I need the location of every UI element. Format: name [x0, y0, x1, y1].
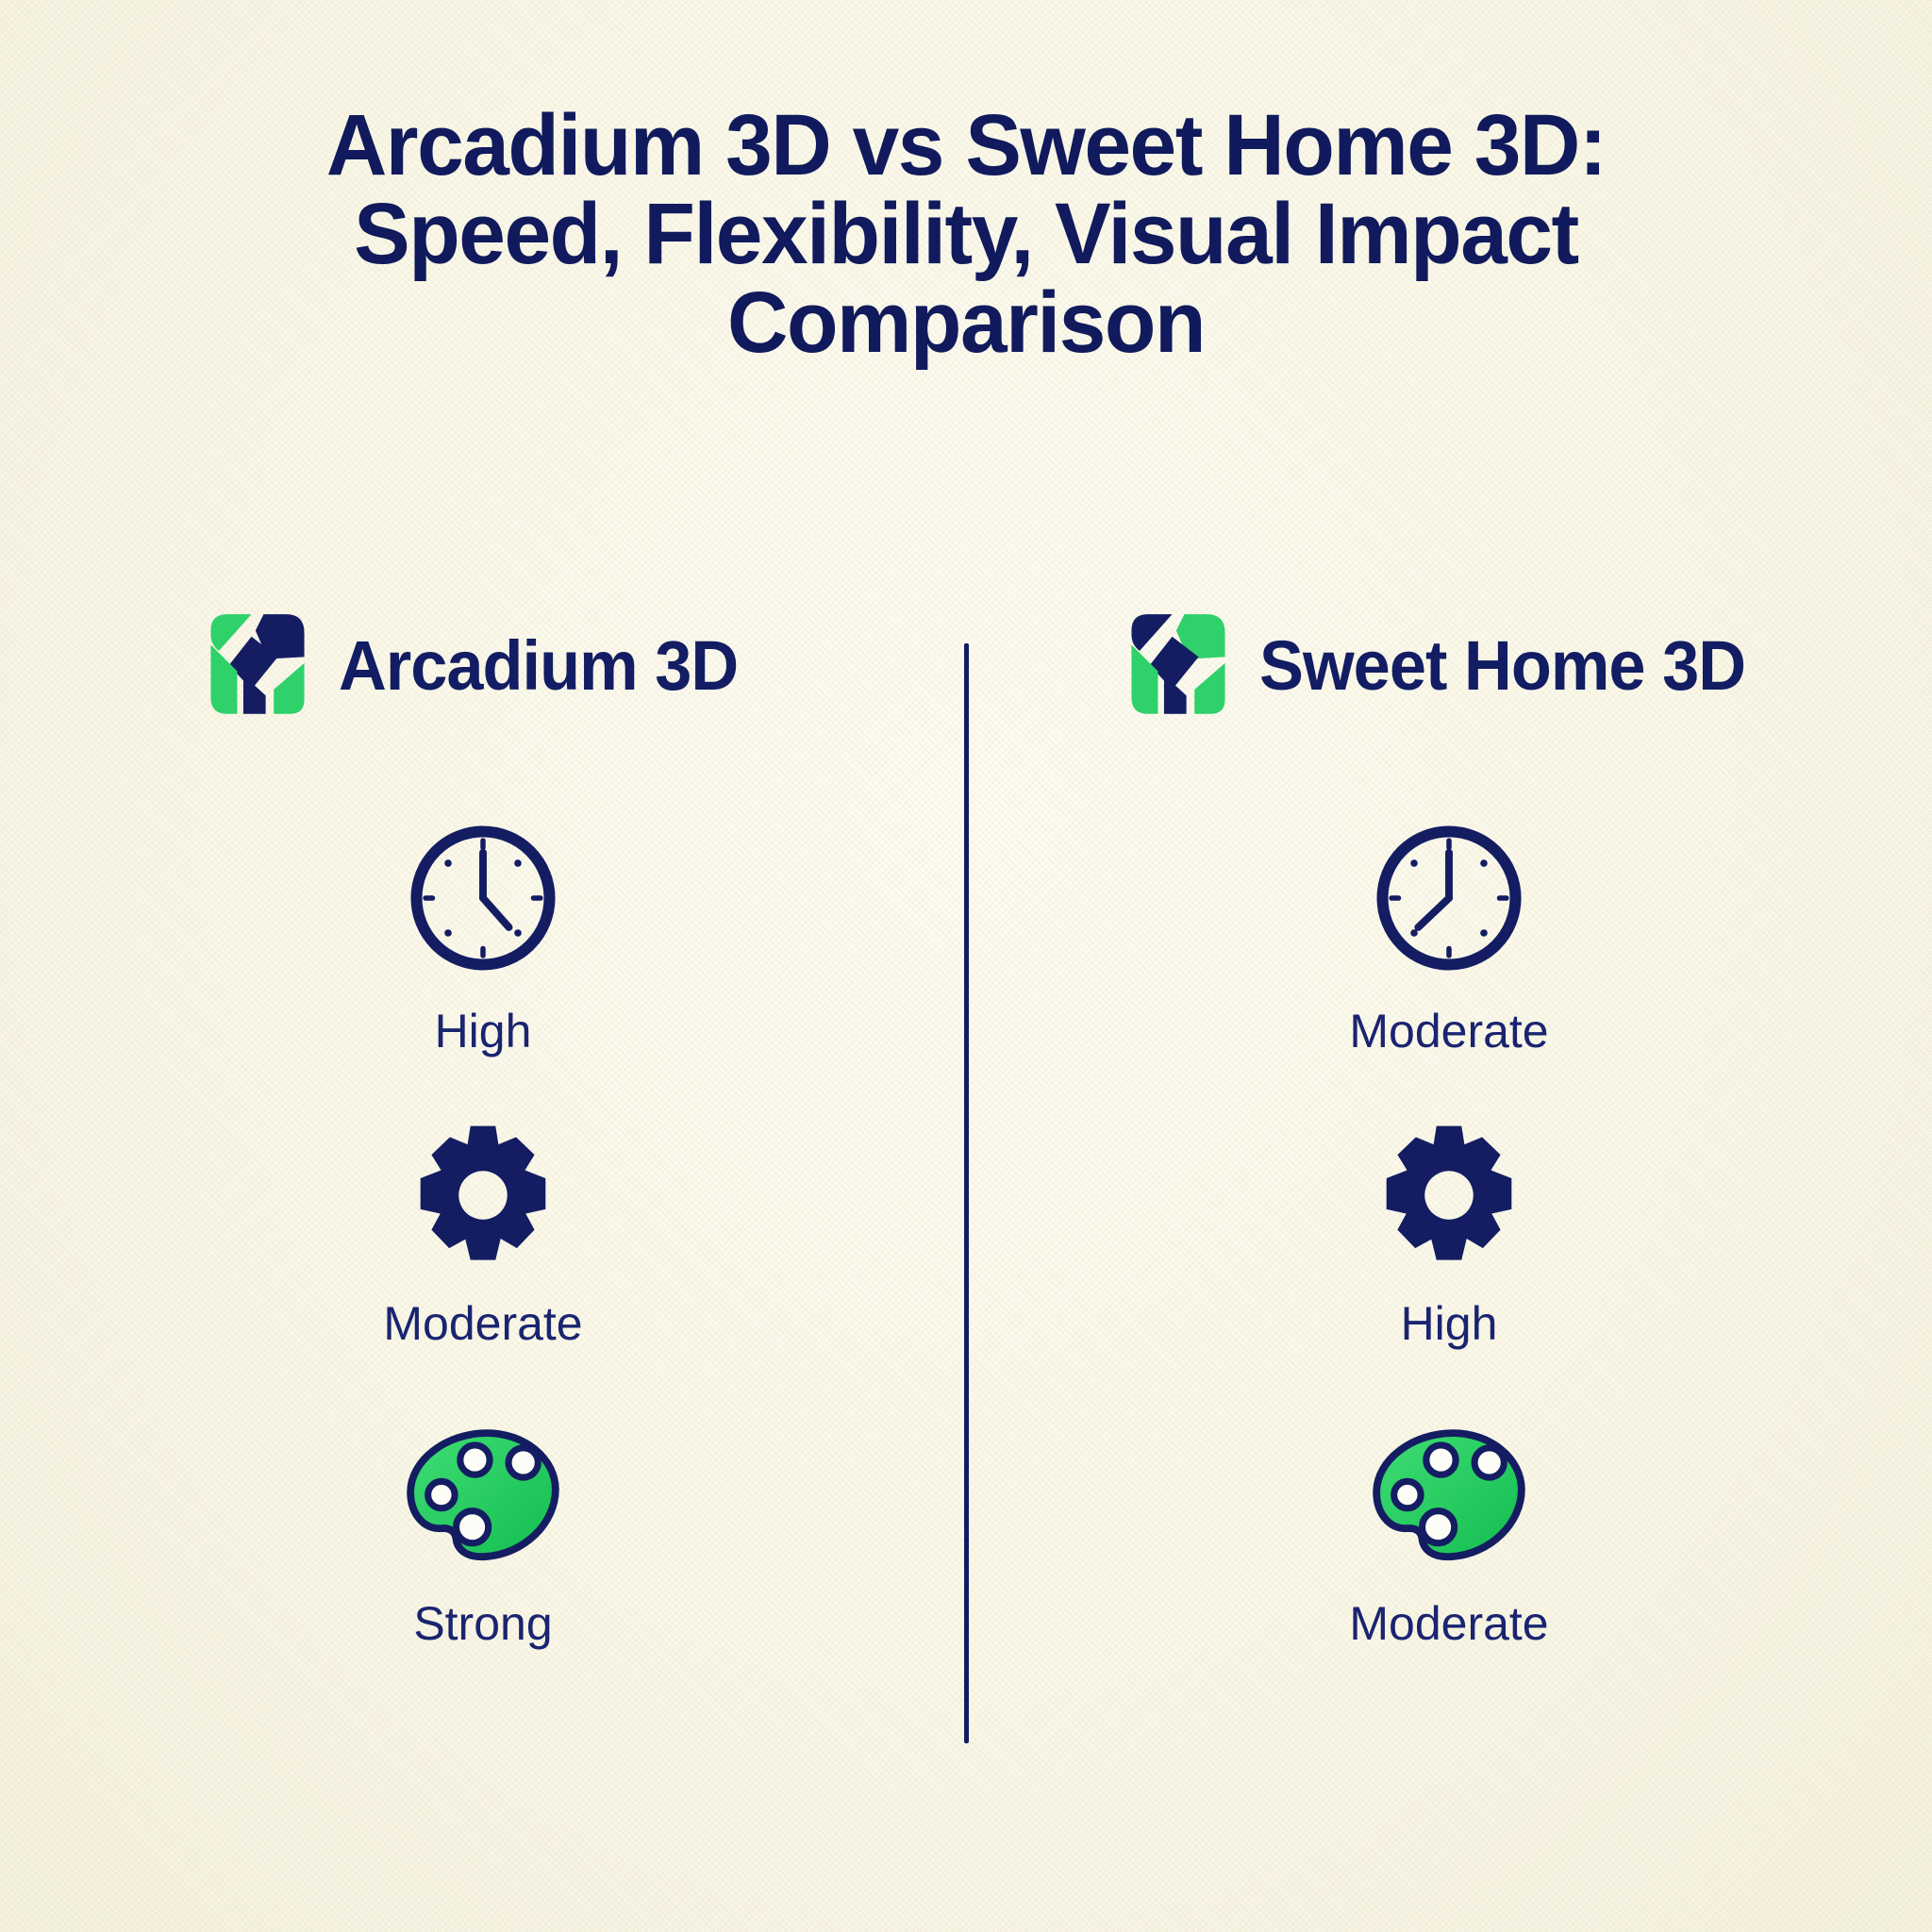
metric-speed-sweethome: Moderate: [1349, 817, 1548, 1119]
metric-visual-impact-sweethome: Moderate: [1349, 1421, 1548, 1723]
gear-icon: [409, 1119, 557, 1272]
metric-label-flexibility-arcadium: Moderate: [383, 1296, 582, 1351]
arcadium-logo-icon: [207, 612, 308, 718]
title-line-2: Speed, Flexibility, Visual Impact: [129, 191, 1802, 279]
metrics-sweethome: Moderate High: [1349, 817, 1548, 1723]
clock-icon: [402, 817, 564, 979]
comparison-columns: Arcadium 3D: [0, 604, 1932, 1723]
column-sweet-home-3d: Sweet Home 3D: [966, 604, 1932, 1723]
metric-label-visual-impact-arcadium: Strong: [413, 1596, 552, 1651]
metric-visual-impact-arcadium: Strong: [404, 1421, 562, 1723]
brand-name-arcadium: Arcadium 3D: [339, 625, 738, 706]
metric-label-flexibility-sweethome: High: [1401, 1296, 1498, 1351]
column-arcadium-3d: Arcadium 3D: [0, 604, 966, 1723]
comparison-infographic: Arcadium 3D vs Sweet Home 3D: Speed, Fle…: [0, 0, 1932, 1932]
sweethome-logo-icon: [1127, 612, 1229, 718]
page-title: Arcadium 3D vs Sweet Home 3D: Speed, Fle…: [0, 102, 1932, 367]
metric-label-visual-impact-sweethome: Moderate: [1349, 1596, 1548, 1651]
metric-flexibility-arcadium: Moderate: [383, 1119, 582, 1421]
metrics-arcadium: High Moderate: [383, 817, 582, 1723]
palette-icon: [404, 1421, 562, 1572]
clock-icon: [1368, 817, 1530, 979]
brand-header-arcadium: Arcadium 3D: [207, 604, 758, 726]
gear-icon: [1375, 1119, 1523, 1272]
title-line-3: Comparison: [129, 279, 1802, 368]
title-line-1: Arcadium 3D vs Sweet Home 3D:: [129, 102, 1802, 191]
metric-label-speed-arcadium: High: [435, 1004, 532, 1058]
palette-icon: [1370, 1421, 1528, 1572]
brand-header-sweethome: Sweet Home 3D: [1127, 604, 1771, 726]
brand-name-sweethome: Sweet Home 3D: [1259, 625, 1745, 706]
metric-label-speed-sweethome: Moderate: [1349, 1004, 1548, 1058]
metric-speed-arcadium: High: [402, 817, 564, 1119]
metric-flexibility-sweethome: High: [1375, 1119, 1523, 1421]
